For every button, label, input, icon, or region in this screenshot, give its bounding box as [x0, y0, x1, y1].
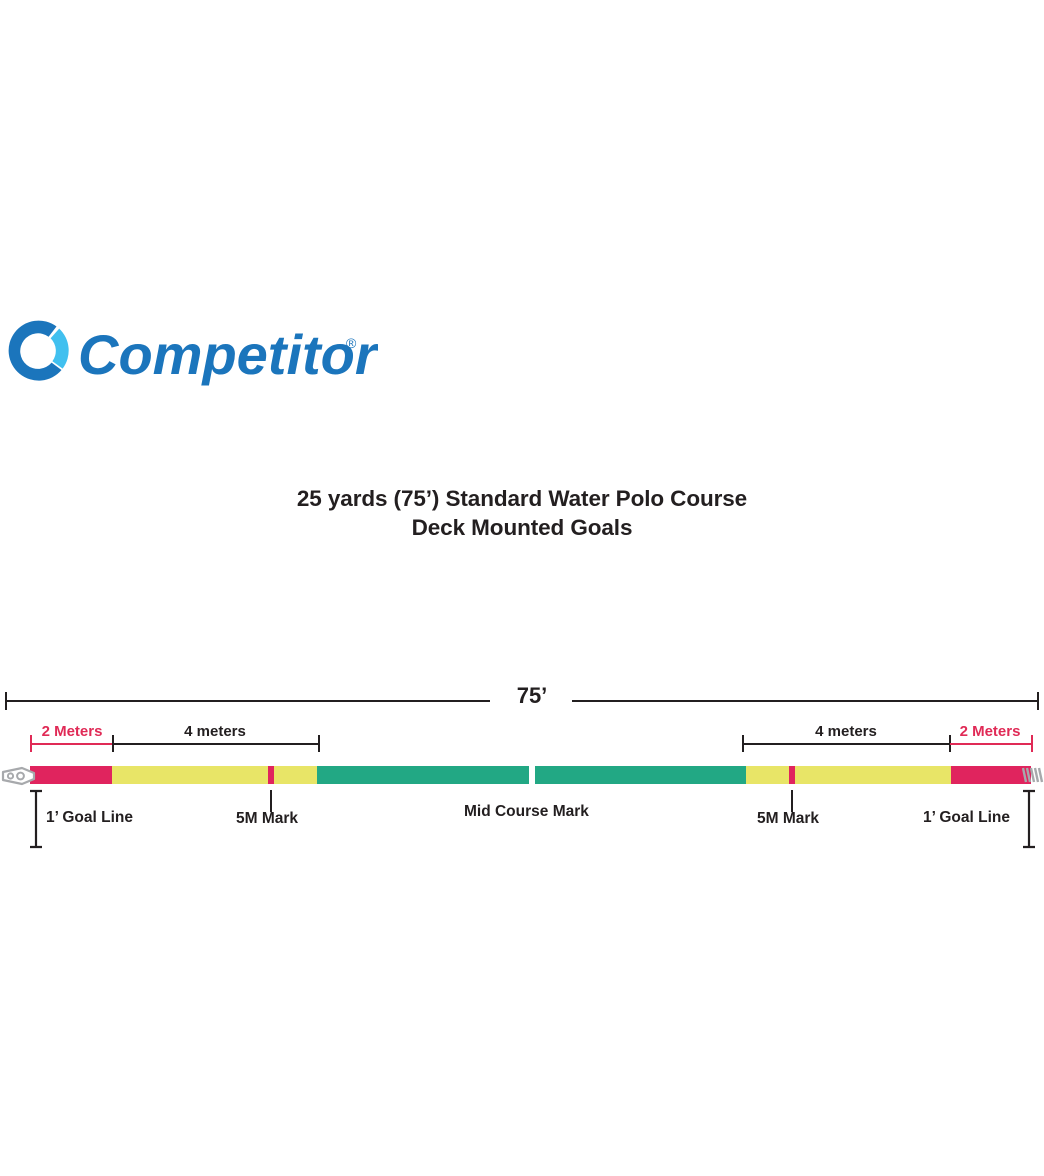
- rope-segment-left-mid: [317, 766, 529, 784]
- rope-segment-left-lane: [112, 766, 317, 784]
- left-five-meter-leader: [270, 790, 272, 812]
- rope-segment-left-goal-zone: [30, 766, 112, 784]
- left-goal-line-label: 1’ Goal Line: [46, 809, 133, 827]
- mid-course-mark-label: Mid Course Mark: [464, 803, 589, 821]
- course-rope: [0, 766, 1044, 784]
- left-four-meter-line: [112, 743, 319, 745]
- right-four-meter-line: [742, 743, 950, 745]
- overall-dimension-segment-right: [572, 700, 1038, 702]
- snap-hook-icon: [0, 765, 42, 787]
- right-four-meter-label: 4 meters: [786, 723, 906, 740]
- overall-dimension-segment-left: [5, 700, 490, 702]
- left-two-meter-line: [30, 743, 113, 745]
- right-goal-line-label: 1’ Goal Line: [923, 809, 1010, 827]
- water-polo-course-diagram: 75’ 2 Meters 4 meters 4 meters 2 Meters: [0, 0, 1044, 1176]
- left-four-meter-tick-end: [318, 735, 320, 752]
- left-two-meter-label: 2 Meters: [20, 723, 124, 740]
- left-four-meter-label: 4 meters: [155, 723, 275, 740]
- right-goal-line-bracket: [1021, 789, 1037, 849]
- rope-mark-right-5m: [789, 766, 795, 784]
- rope-segment-right-mid: [535, 766, 746, 784]
- overall-dimension-tick-right: [1037, 692, 1039, 710]
- rope-segment-right-lane: [746, 766, 951, 784]
- overall-dimension-label: 75’: [496, 683, 568, 709]
- right-two-meter-line: [950, 743, 1032, 745]
- rope-segment-right-goal-zone: [951, 766, 1031, 784]
- left-goal-line-bracket: [28, 789, 44, 849]
- tension-spring-icon: [1022, 765, 1044, 785]
- right-two-meter-label: 2 Meters: [938, 723, 1042, 740]
- rope-mark-left-5m: [268, 766, 274, 784]
- left-five-meter-label: 5M Mark: [236, 810, 298, 828]
- right-five-meter-label: 5M Mark: [757, 810, 819, 828]
- right-five-meter-leader: [791, 790, 793, 812]
